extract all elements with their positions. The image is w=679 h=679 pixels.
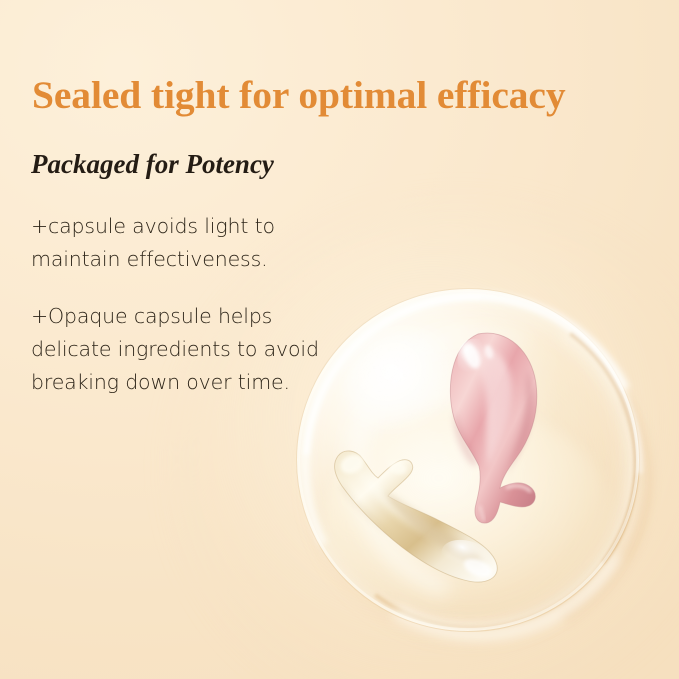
benefit-bullet-1: +capsule avoids light to maintain effect… xyxy=(31,210,331,276)
product-benefit-panel: Sealed tight for optimal efficacy Packag… xyxy=(0,0,679,679)
translucent-sphere-illustration xyxy=(296,288,640,632)
cream-fish-capsule xyxy=(314,428,534,588)
subtitle: Packaged for Potency xyxy=(31,150,274,180)
page-title: Sealed tight for optimal efficacy xyxy=(32,74,658,117)
benefit-bullet-2: +Opaque capsule helps delicate ingredien… xyxy=(31,300,331,400)
